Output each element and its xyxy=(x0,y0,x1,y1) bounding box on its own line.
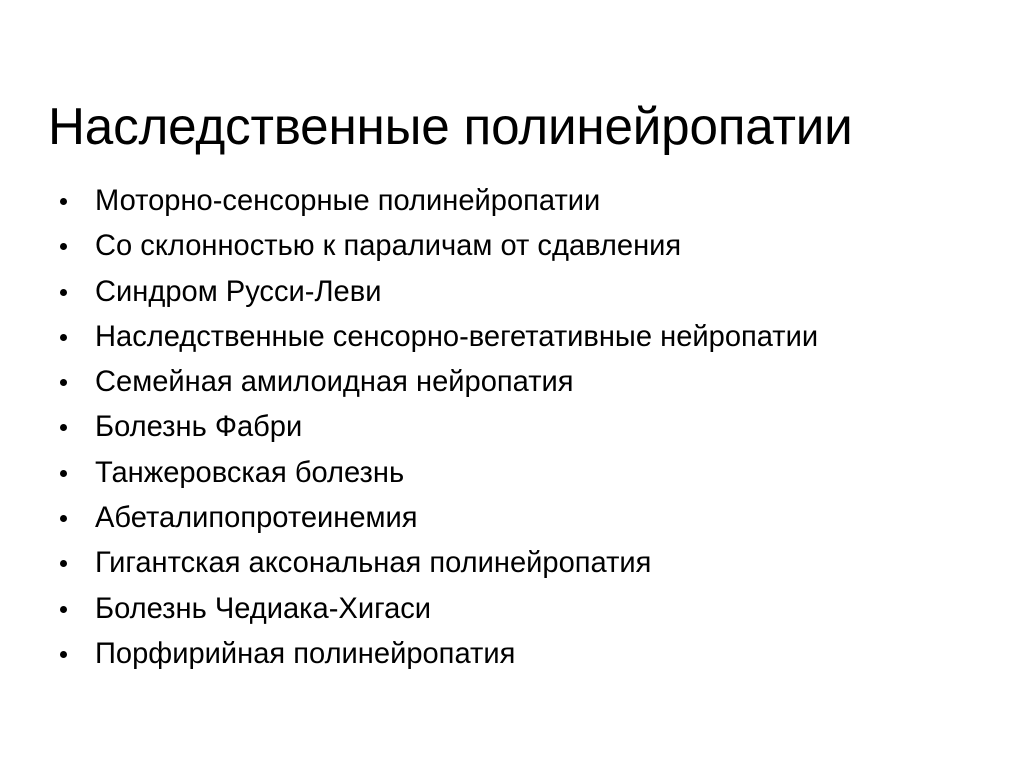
list-item: Болезнь Фабри xyxy=(50,410,970,455)
round-bullet-icon xyxy=(60,334,67,341)
presentation-slide: Наследственные полинейропатии Моторно-се… xyxy=(0,0,1014,768)
list-item-label: Семейная амилоидная нейропатия xyxy=(95,365,574,398)
list-item-label: Болезнь Фабри xyxy=(95,410,302,443)
list-item: Гигантская аксональная полинейропатия xyxy=(50,546,970,591)
list-item: Семейная амилоидная нейропатия xyxy=(50,365,970,410)
round-bullet-icon xyxy=(60,243,67,250)
round-bullet-icon xyxy=(60,198,67,205)
list-item-label: Моторно-сенсорные полинейропатии xyxy=(95,184,600,217)
round-bullet-icon xyxy=(60,289,67,296)
list-item-label: Синдром Русси-Леви xyxy=(95,275,381,308)
round-bullet-icon xyxy=(60,606,67,613)
list-item-label: Порфирийная полинейропатия xyxy=(95,637,515,670)
round-bullet-icon xyxy=(60,424,67,431)
round-bullet-icon xyxy=(60,560,67,567)
list-item: Танжеровская болезнь xyxy=(50,456,970,501)
list-item: Болезнь Чедиака-Хигаси xyxy=(50,592,970,637)
round-bullet-icon xyxy=(60,470,67,477)
list-item: Порфирийная полинейропатия xyxy=(50,637,970,682)
list-item-label: Наследственные сенсорно-вегетативные ней… xyxy=(95,320,818,353)
list-item-label: Со склонностью к параличам от сдавления xyxy=(95,229,681,262)
list-item: Синдром Русси-Леви xyxy=(50,275,970,320)
round-bullet-icon xyxy=(60,515,67,522)
list-item: Наследственные сенсорно-вегетативные ней… xyxy=(50,320,970,365)
list-item: Со склонностью к параличам от сдавления xyxy=(50,229,970,274)
bullet-list: Моторно-сенсорные полинейропатии Со скло… xyxy=(50,184,970,682)
round-bullet-icon xyxy=(60,651,67,658)
list-item-label: Танжеровская болезнь xyxy=(95,456,404,489)
list-item-label: Болезнь Чедиака-Хигаси xyxy=(95,592,431,625)
list-item: Абеталипопротеинемия xyxy=(50,501,970,546)
list-item-label: Абеталипопротеинемия xyxy=(95,501,418,534)
round-bullet-icon xyxy=(60,379,67,386)
list-item-label: Гигантская аксональная полинейропатия xyxy=(95,546,651,579)
slide-title: Наследственные полинейропатии xyxy=(48,98,954,160)
list-item: Моторно-сенсорные полинейропатии xyxy=(50,184,970,229)
